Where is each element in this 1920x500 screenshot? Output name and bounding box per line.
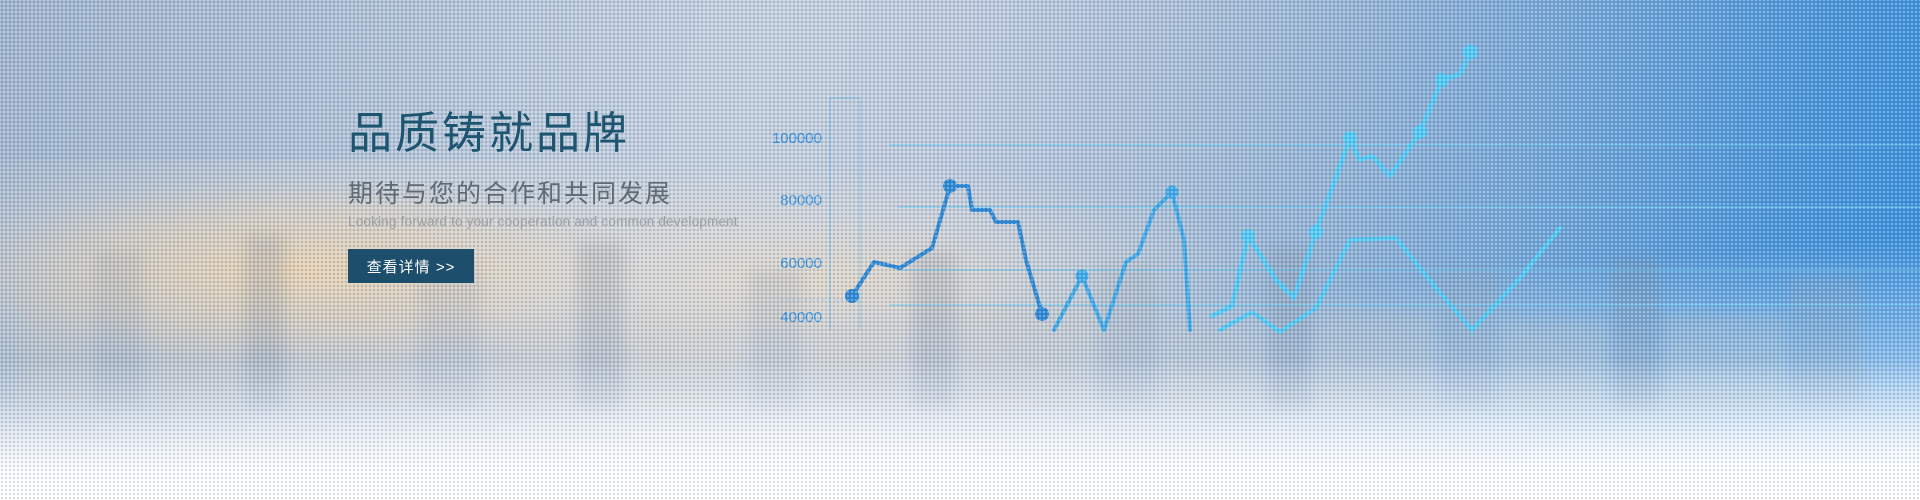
line-chart: 100000 80000 60000 40000 [760,30,1920,370]
chart-data-point [1413,125,1427,139]
chart-data-point [1241,229,1255,243]
y-tick-label: 80000 [780,192,822,209]
chart-data-point [1035,307,1049,321]
chart-gridlines [890,145,1920,305]
chart-data-point [1463,45,1478,60]
chart-data-point [1435,73,1449,87]
chart-series-bright-lower [1220,228,1560,332]
chart-data-point [1343,131,1357,145]
chart-data-point [1309,225,1323,239]
hero-subtitle-english: Looking forward to your cooperation and … [348,215,768,229]
chart-series-dark-left [845,179,1049,321]
chart-y-axis-labels: 100000 80000 60000 40000 [772,130,822,326]
chart-data-point [1166,186,1179,199]
hero-text-block: 品质铸就品牌 期待与您的合作和共同发展 Looking forward to y… [348,112,768,229]
hero-subtitle: 期待与您的合作和共同发展 [348,182,768,207]
bottom-fade-overlay [0,360,1920,500]
chart-data-point [1076,270,1089,283]
chart-data-point [943,179,957,193]
view-details-button[interactable]: 查看详情 >> [348,249,474,283]
chart-data-point [845,289,859,303]
hero-banner: 100000 80000 60000 40000 [0,0,1920,500]
y-tick-label: 60000 [780,255,822,272]
y-tick-label: 100000 [772,130,822,147]
page-title: 品质铸就品牌 [348,112,768,156]
y-tick-label: 40000 [780,309,822,326]
chart-series-bright-rising [1212,45,1478,317]
